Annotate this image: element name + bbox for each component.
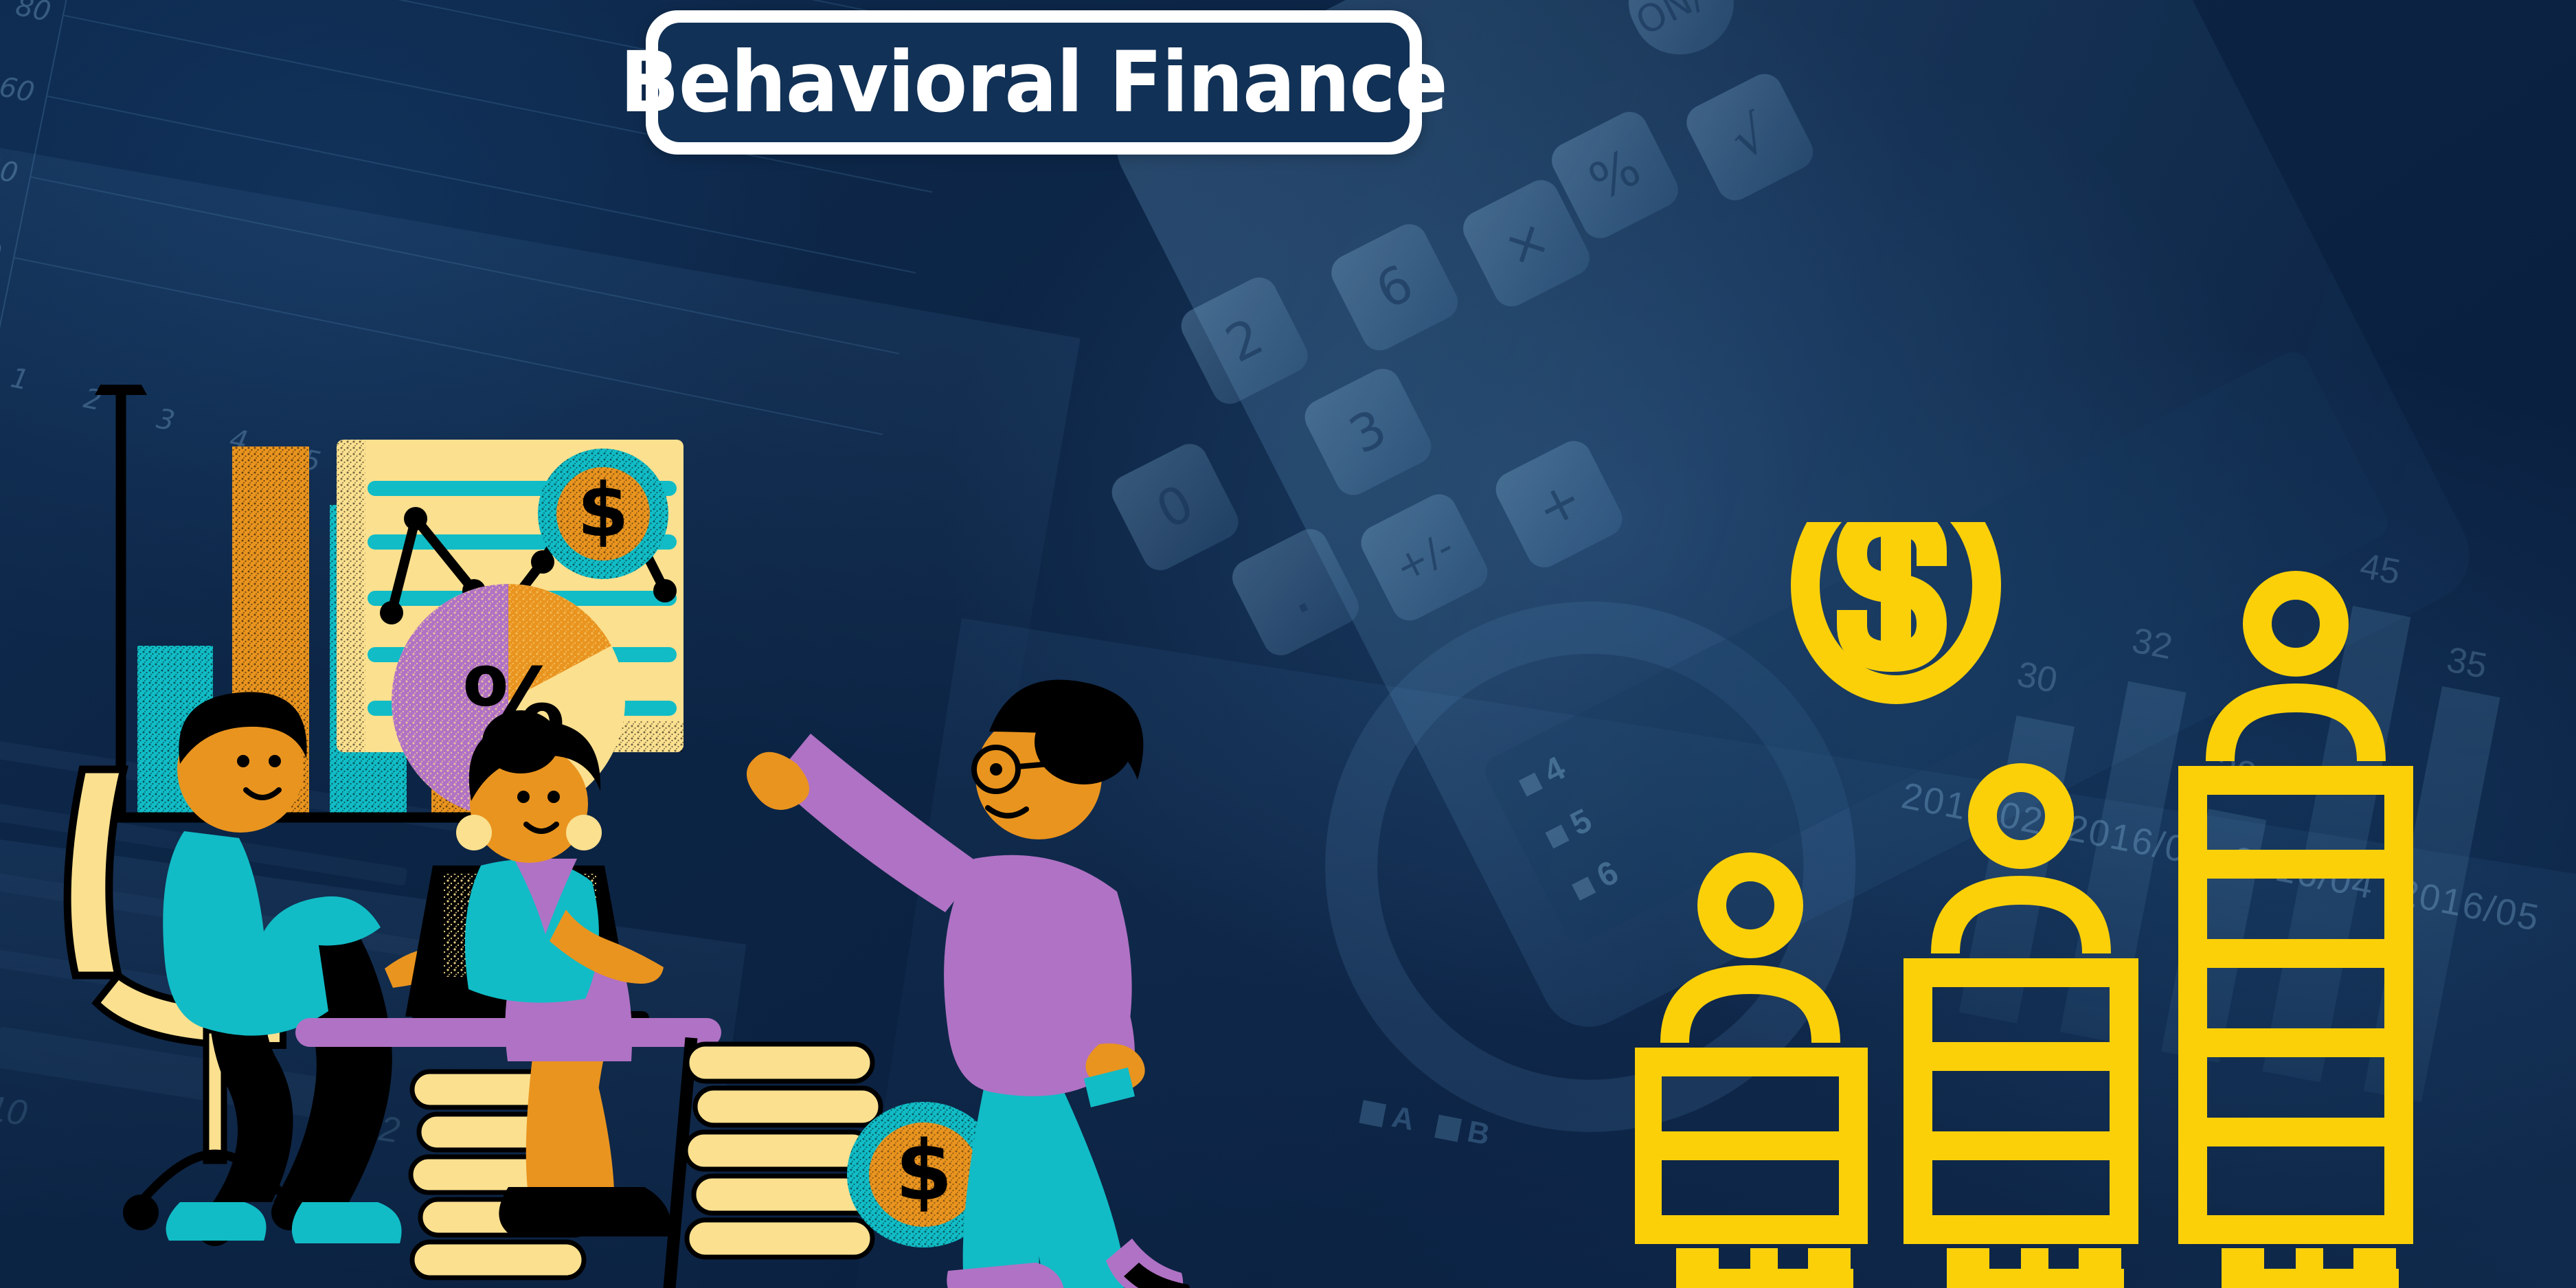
growth-people-bars-infographic bbox=[1635, 522, 2576, 1288]
bg-ytick-80: 80 bbox=[0, 0, 54, 28]
svg-text:$: $ bbox=[895, 1124, 953, 1219]
bg-ytick-40: 40 bbox=[0, 146, 21, 190]
svg-text:$: $ bbox=[577, 468, 629, 554]
bg-ytick-20: 20 bbox=[0, 227, 4, 271]
poster-canvas: 120 100 80 60 40 20 0 1 2 3 4 5 6 7 8 9 … bbox=[0, 0, 2576, 1288]
title-card: Behavioral Finance bbox=[646, 10, 1422, 155]
people-bar-3 bbox=[2193, 585, 2399, 1283]
financial-team-illustration: $ % bbox=[0, 385, 1305, 1288]
dollar-coin-badge bbox=[1805, 522, 1987, 690]
page-title: Behavioral Finance bbox=[620, 34, 1447, 131]
title-card-inner: Behavioral Finance bbox=[658, 23, 1410, 142]
person-seated-analyst bbox=[67, 692, 468, 1246]
people-bar-1 bbox=[1647, 867, 1853, 1283]
people-bar-2 bbox=[1918, 778, 2124, 1283]
bg-ytick-60: 60 bbox=[0, 66, 37, 109]
dollar-coin-top: $ bbox=[538, 449, 668, 579]
